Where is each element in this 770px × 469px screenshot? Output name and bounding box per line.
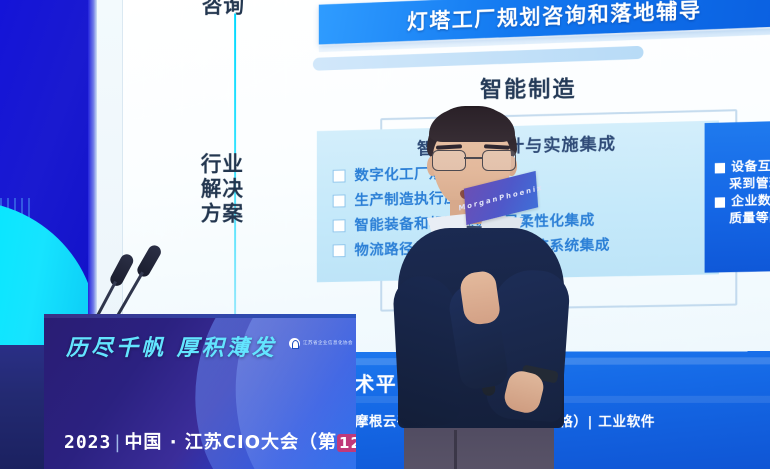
bullet-text: 企业数字化生产、能耗、 <box>731 189 770 210</box>
speaker-hair-front <box>429 108 515 142</box>
podium-event-year: 2023 <box>64 432 111 453</box>
bullet-text-cont: 采到管理全链路 <box>715 173 770 193</box>
square-bullet-icon <box>333 169 346 182</box>
glasses-icon <box>432 150 514 170</box>
square-bullet-icon <box>333 219 346 232</box>
screenshot-stage: 咨询 行业 解决 方案 灯塔工厂规划咨询和落地辅导 智能制造 智能工厂设计与实施… <box>0 0 770 469</box>
speaker-leg-seam <box>454 430 457 469</box>
glasses-lens-left <box>432 150 466 171</box>
slide-card-dark: 设备互联互通，数据从 采到管理全链路 企业数字化生产、能耗、 质量等的业务管理 <box>705 120 770 273</box>
podium-title-separator: | <box>111 432 124 453</box>
square-bullet-icon <box>715 163 725 173</box>
sponsor-logo-icon <box>289 338 300 349</box>
bullet-text: 设备互联互通，数据从 <box>731 155 770 175</box>
glasses-lens-right <box>482 150 516 171</box>
podium-title-main: 中国 · 江苏CIO大会（第 <box>124 432 337 453</box>
list-item: 设备互联互通，数据从 采到管理全链路 <box>715 156 770 193</box>
speaker-person: MorganPhoenix <box>380 100 580 469</box>
side-panel-edge <box>88 0 97 345</box>
slide-label-consulting: 咨询 <box>185 0 261 19</box>
podium-slogan: 历尽千帆 厚积薄发 <box>66 330 286 362</box>
sponsor-logo-text: 江苏省企业信息化协会 <box>303 340 353 346</box>
slide-card-dark-bullets: 设备互联互通，数据从 采到管理全链路 企业数字化生产、能耗、 质量等的业务管理 <box>715 156 770 227</box>
sponsor-logo: 江苏省企业信息化协会 <box>289 336 355 350</box>
list-item: 企业数字化生产、能耗、 质量等的业务管理 <box>715 190 770 227</box>
slide-label-industry-solution: 行业 解决 方案 <box>183 152 261 226</box>
podium-edition-number: 12 <box>337 434 356 452</box>
podium: 历尽千帆 厚积薄发 江苏省企业信息化协会 2023|中国 · 江苏CIO大会（第… <box>44 318 356 469</box>
square-bullet-icon <box>333 244 346 257</box>
podium-event-title: 2023|中国 · 江苏CIO大会（第12届） <box>64 428 344 454</box>
bullet-text-cont: 质量等的业务管理 <box>715 207 770 227</box>
square-bullet-icon <box>333 194 346 207</box>
glasses-bridge <box>464 157 482 159</box>
square-bullet-icon <box>715 197 725 207</box>
